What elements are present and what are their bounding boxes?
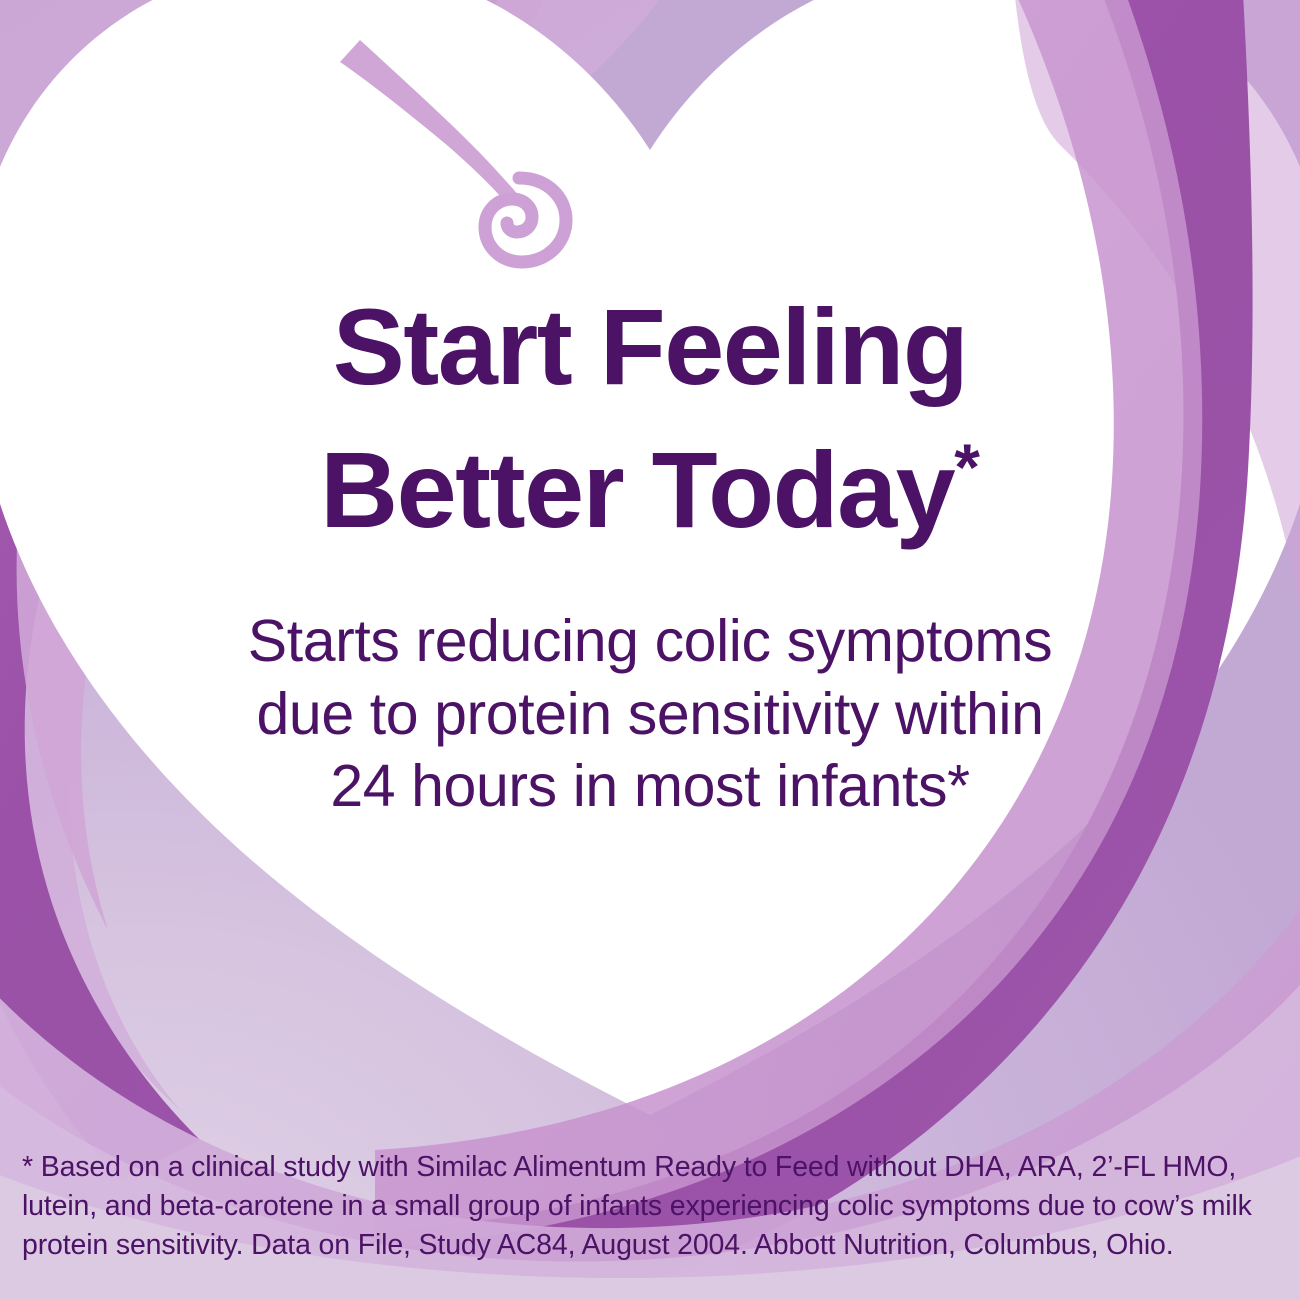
- headline-line-2: Better Today: [320, 429, 954, 550]
- footnote-disclaimer: * Based on a clinical study with Similac…: [22, 1148, 1270, 1264]
- poster-canvas: Start Feeling Better Today* Starts reduc…: [0, 0, 1300, 1300]
- subheadline-line-3: 24 hours in most infants*: [150, 750, 1150, 823]
- headline-line-2-wrap: Better Today*: [0, 419, 1300, 562]
- subheadline: Starts reducing colic symptoms due to pr…: [150, 605, 1150, 823]
- headline-line-1: Start Feeling: [0, 276, 1300, 419]
- page-title: Start Feeling Better Today*: [0, 276, 1300, 561]
- subheadline-line-1: Starts reducing colic symptoms: [150, 605, 1150, 678]
- headline-asterisk: *: [954, 430, 980, 504]
- text-content: Start Feeling Better Today* Starts reduc…: [0, 0, 1300, 1300]
- subheadline-line-2: due to protein sensitivity within: [150, 678, 1150, 751]
